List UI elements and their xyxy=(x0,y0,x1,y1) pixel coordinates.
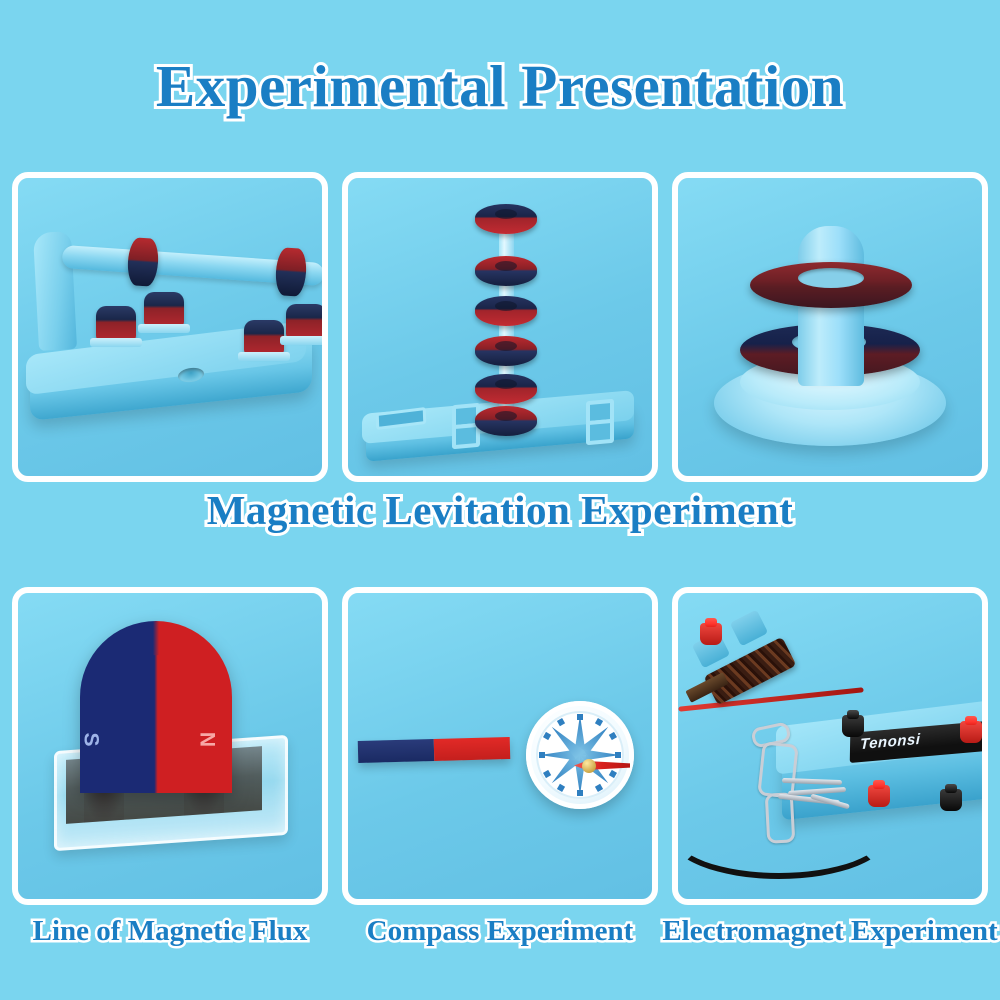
ring-magnet xyxy=(475,336,537,366)
bar-magnet-south-pole xyxy=(358,739,435,763)
terminal-black[interactable] xyxy=(842,715,864,737)
photo-levitating-ring-stack xyxy=(348,178,652,476)
bar-magnet-north-pole xyxy=(434,737,511,761)
horseshoe-magnet xyxy=(80,621,232,793)
magnet-cradle xyxy=(244,320,284,354)
ring-magnet xyxy=(475,204,537,234)
panel-electromagnet-demo[interactable]: Tenonsi xyxy=(672,587,988,905)
compass-face xyxy=(536,711,624,799)
compass xyxy=(526,701,634,809)
panel-levitating-post-disc[interactable] xyxy=(672,172,988,482)
panel-compass-demo[interactable] xyxy=(342,587,658,905)
ring-magnet xyxy=(475,256,537,286)
terminal-red[interactable] xyxy=(960,721,982,743)
photo-electromagnet-demo: Tenonsi xyxy=(678,593,982,899)
panel-levitating-ring-stack[interactable] xyxy=(342,172,658,482)
panel-row-levitation xyxy=(12,172,988,482)
ring-magnet-hole xyxy=(798,268,864,288)
photo-levitating-rod-rig xyxy=(18,178,322,476)
ring-magnet xyxy=(475,296,537,326)
ring-magnet xyxy=(126,237,159,287)
caption-magnetic-levitation: Magnetic Levitation Experiment xyxy=(0,490,1000,531)
ring-magnet xyxy=(274,247,307,297)
page-title: Experimental Presentation xyxy=(0,57,1000,116)
magnet-cradle xyxy=(144,292,184,326)
ring-magnet xyxy=(475,406,537,436)
battery-label: Tenonsi xyxy=(860,731,921,753)
photo-compass-demo xyxy=(348,593,652,899)
panel-row-experiments: S N xyxy=(12,587,988,905)
caption-compass-experiment: Compass Experiment xyxy=(340,915,660,948)
caption-row-bottom: Line of Magnetic Flux Compass Experiment… xyxy=(0,915,1000,948)
panel-levitating-rod-rig[interactable] xyxy=(12,172,328,482)
terminal-red[interactable] xyxy=(868,785,890,807)
terminal-red[interactable] xyxy=(700,623,722,645)
coil-holder xyxy=(730,610,769,647)
ring-magnet xyxy=(475,374,537,404)
caption-line-of-magnetic-flux: Line of Magnetic Flux xyxy=(0,915,340,948)
bar-magnet xyxy=(358,737,511,763)
ring-magnet-upper xyxy=(750,262,912,308)
panel-magnetic-flux-demo[interactable]: S N xyxy=(12,587,328,905)
pole-label-south: S xyxy=(90,722,103,758)
terminal-black[interactable] xyxy=(940,789,962,811)
base-slot xyxy=(586,419,614,445)
pole-label-north: N xyxy=(206,722,219,758)
magnet-cradle xyxy=(96,306,136,340)
photo-magnetic-flux-demo: S N xyxy=(18,593,322,899)
compass-pivot xyxy=(582,759,596,773)
magnet-cradle xyxy=(286,304,326,338)
photo-levitating-post-disc xyxy=(678,178,982,476)
caption-electromagnet-experiment: Electromagnet Experiment xyxy=(660,915,1000,948)
